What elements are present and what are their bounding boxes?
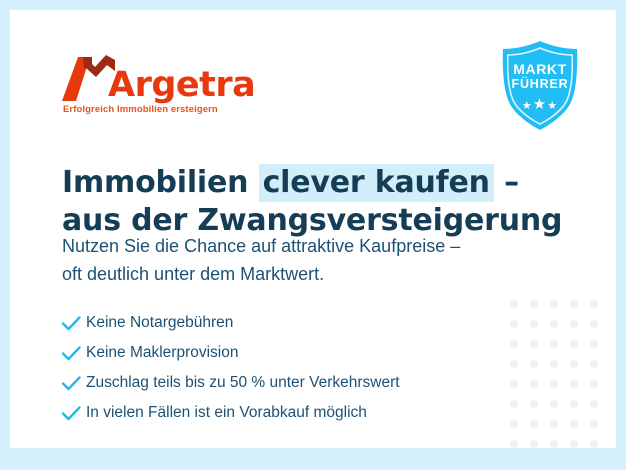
dot (570, 440, 578, 448)
market-leader-badge: MARKT FÜHRER ★★★ (497, 40, 583, 132)
check-icon (62, 406, 86, 421)
dot (570, 320, 578, 328)
ad-banner: Argetra Erfolgreich Immobilien ersteiger… (0, 0, 626, 470)
dot (570, 420, 578, 428)
headline-highlight: clever kaufen (259, 164, 494, 202)
dot (590, 360, 598, 368)
dot (550, 340, 558, 348)
shield-icon (497, 119, 583, 136)
list-item: Keine Maklerprovision (62, 338, 532, 368)
logo-wordmark: Argetra (108, 68, 255, 103)
dot (570, 400, 578, 408)
dot (550, 400, 558, 408)
subheading-line-1: Nutzen Sie die Chance auf attraktive Kau… (62, 232, 552, 260)
check-icon (62, 346, 86, 361)
subheading: Nutzen Sie die Chance auf attraktive Kau… (62, 232, 552, 288)
benefits-checklist: Keine Notargebühren Keine Maklerprovisio… (62, 308, 532, 428)
dot (590, 340, 598, 348)
headline-line-1: Immobilien clever kaufen – (62, 164, 542, 202)
dot-row (510, 300, 616, 308)
list-item-label: In vielen Fällen ist ein Vorabkauf mögli… (86, 405, 367, 421)
logo-tagline: Erfolgreich Immobilien ersteigern (63, 104, 218, 115)
dot (590, 420, 598, 428)
argetra-logo[interactable]: Argetra Erfolgreich Immobilien ersteiger… (62, 54, 262, 124)
dot (550, 300, 558, 308)
dot (510, 440, 518, 448)
dot (590, 320, 598, 328)
dot (550, 420, 558, 428)
dot (550, 440, 558, 448)
dot (590, 400, 598, 408)
list-item-label: Keine Maklerprovision (86, 345, 239, 361)
dot (550, 360, 558, 368)
list-item-label: Zuschlag teils bis zu 50 % unter Verkehr… (86, 375, 400, 391)
dot (590, 440, 598, 448)
dot (570, 380, 578, 388)
dot (570, 360, 578, 368)
headline: Immobilien clever kaufen – aus der Zwang… (62, 164, 542, 240)
dot (590, 300, 598, 308)
headline-text-after: – (494, 165, 519, 200)
subheading-line-2: oft deutlich unter dem Marktwert. (62, 260, 552, 288)
dot (550, 320, 558, 328)
headline-text-before: Immobilien (62, 165, 259, 200)
list-item: In vielen Fällen ist ein Vorabkauf mögli… (62, 398, 532, 428)
dot (570, 340, 578, 348)
dot-row (510, 440, 616, 448)
dot (530, 440, 538, 448)
dot (530, 300, 538, 308)
check-icon (62, 316, 86, 331)
dot (570, 300, 578, 308)
list-item: Keine Notargebühren (62, 308, 532, 338)
check-icon (62, 376, 86, 391)
dot (550, 380, 558, 388)
dot (590, 380, 598, 388)
list-item: Zuschlag teils bis zu 50 % unter Verkehr… (62, 368, 532, 398)
ad-card: Argetra Erfolgreich Immobilien ersteiger… (10, 10, 616, 448)
list-item-label: Keine Notargebühren (86, 315, 233, 331)
dot (510, 300, 518, 308)
